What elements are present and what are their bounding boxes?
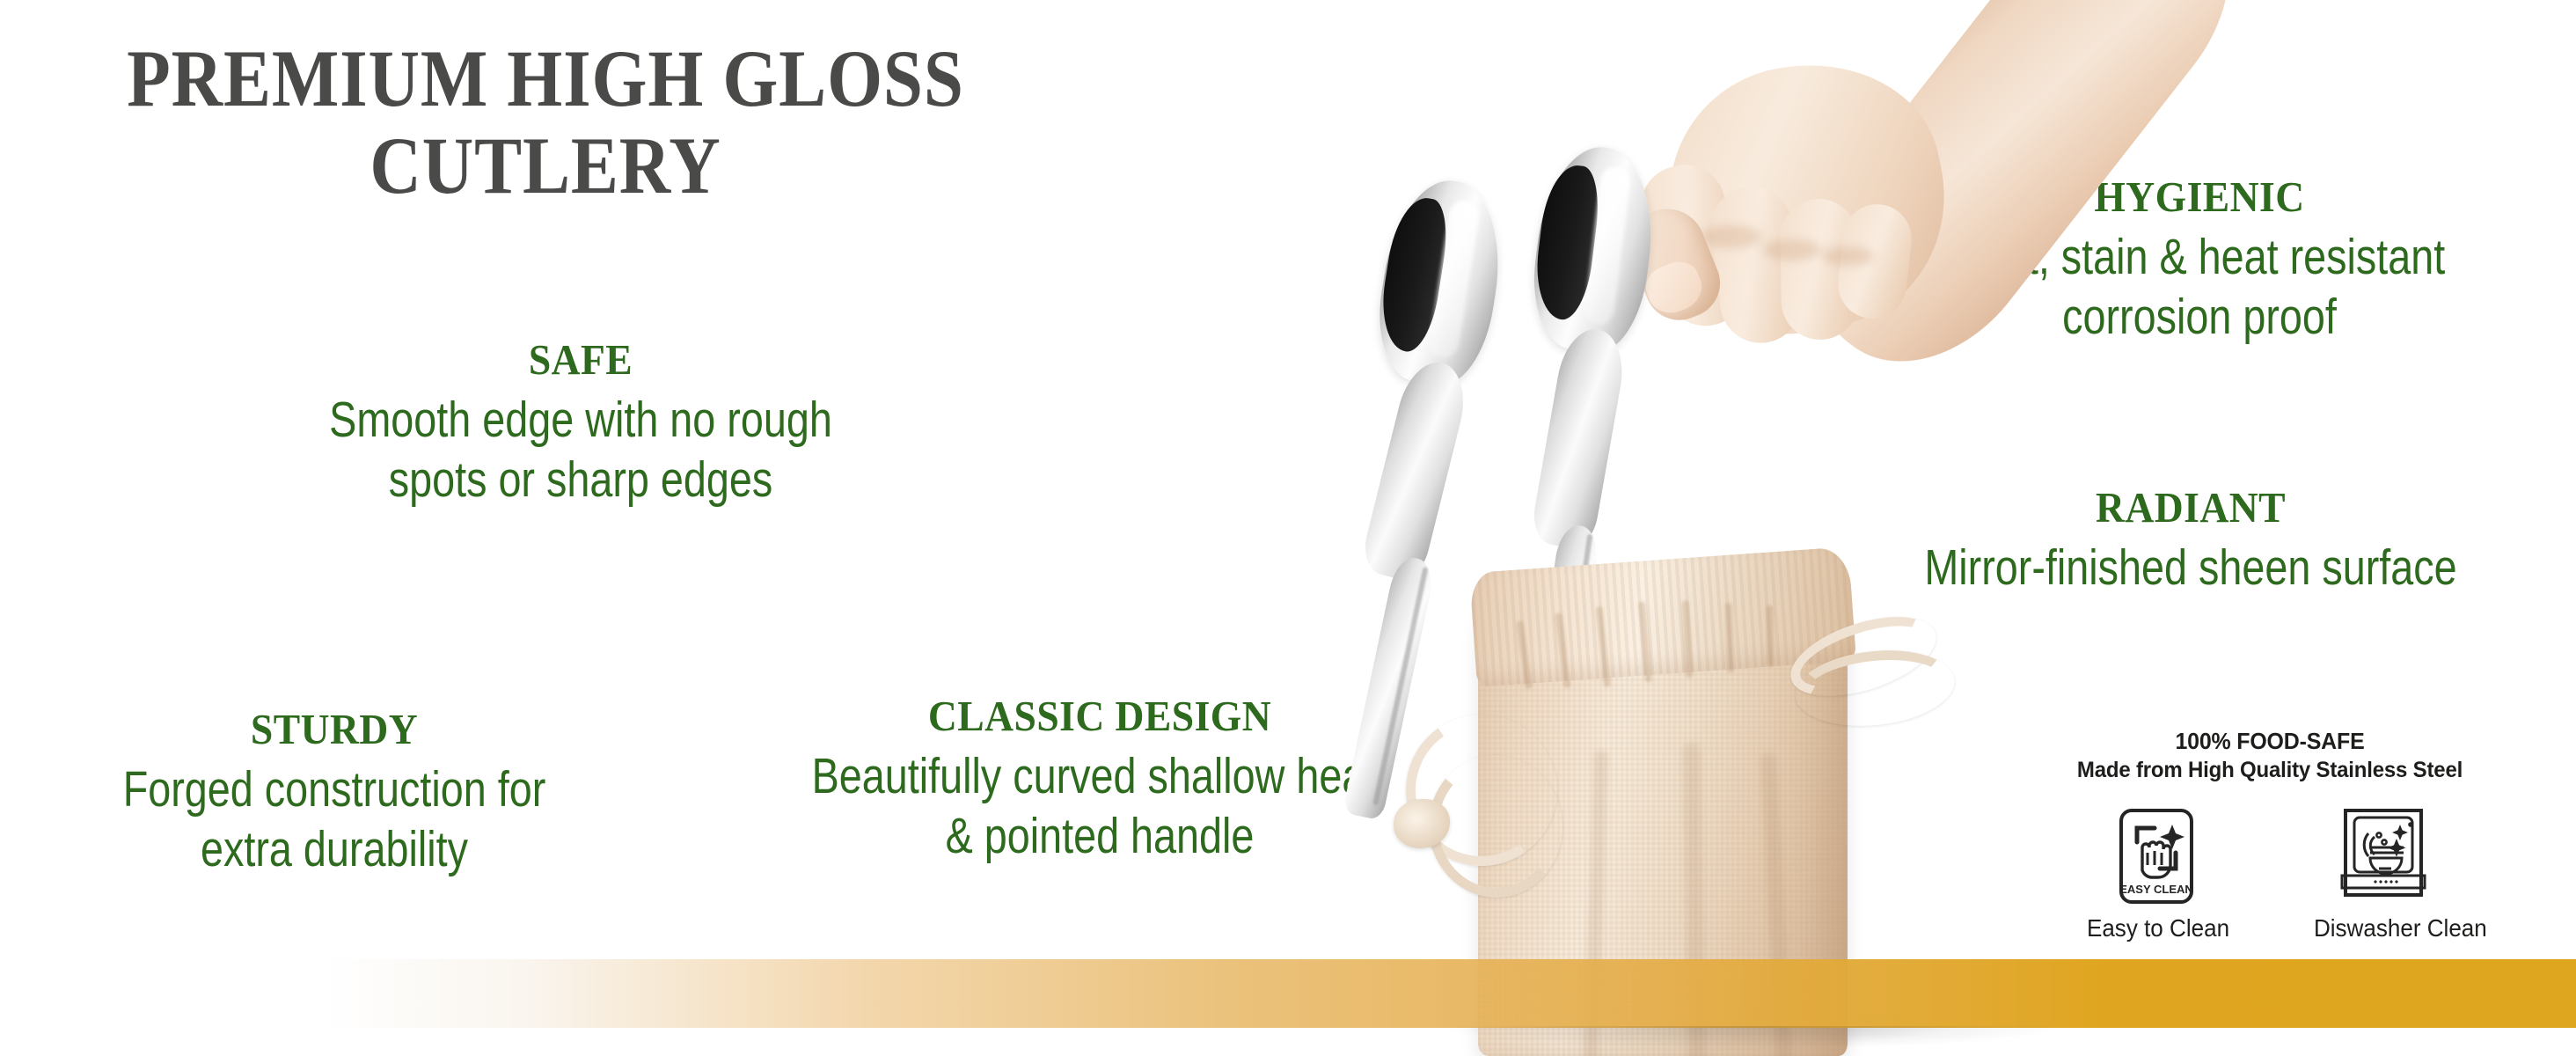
knuckle-shade: [1823, 246, 1874, 266]
spoon-neck: [1358, 356, 1473, 584]
pouch-gather: [1724, 603, 1734, 673]
pouch-gather: [1638, 601, 1652, 682]
pouch-gather: [1682, 600, 1694, 678]
spoon-bowl: [1526, 141, 1662, 357]
dishwasher-icon: [2309, 807, 2458, 906]
band-shadow: [1443, 1026, 2059, 1049]
feature-body: Smooth edge with no rough spots or sharp…: [292, 390, 869, 510]
pouch-gather: [1595, 606, 1611, 687]
feature-safe: SAFE Smooth edge with no rough spots or …: [229, 334, 933, 510]
page-title: PREMIUM HIGH GLOSS CUTLERY: [97, 35, 995, 210]
infographic-canvas: PREMIUM HIGH GLOSS CUTLERY: [0, 0, 2576, 1056]
feature-heading: SAFE: [253, 334, 908, 385]
pouch-gather: [1516, 620, 1533, 689]
feature-body: Forged construction for extra durability: [60, 759, 608, 880]
knuckle-shade: [1700, 225, 1761, 248]
badge-dishwasher-clean: Diswasher Clean: [2309, 807, 2458, 942]
feature-heading: STURDY: [24, 704, 646, 754]
gold-accent-band: [0, 959, 2576, 1028]
feature-sturdy: STURDY Forged construction for extra dur…: [0, 704, 669, 880]
badge-label: Diswasher Clean: [2314, 914, 2453, 942]
pouch-gather: [1766, 605, 1774, 666]
knuckle-shade: [1763, 239, 1821, 260]
pouch-gather: [1555, 612, 1570, 688]
spoon-neck: [1529, 324, 1629, 552]
product-photo: [1302, 0, 2252, 1056]
spoon-bowl: [1369, 172, 1512, 392]
